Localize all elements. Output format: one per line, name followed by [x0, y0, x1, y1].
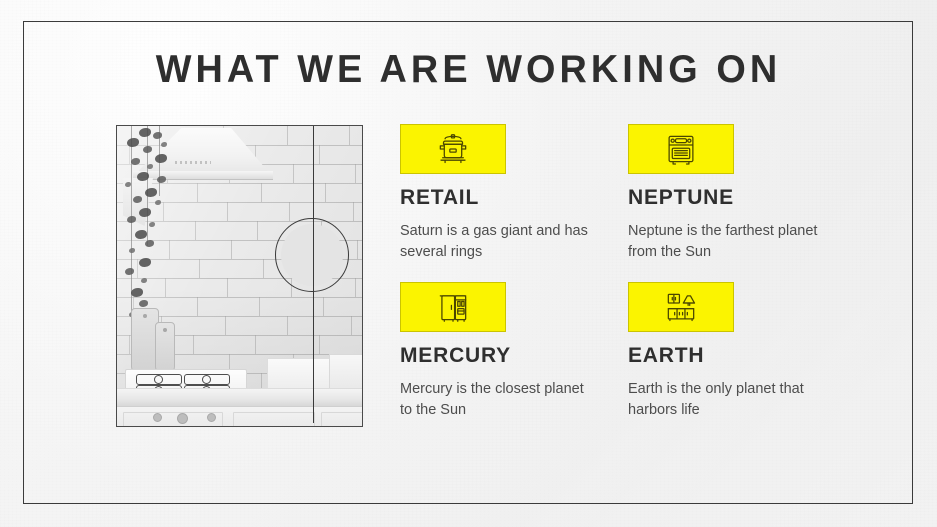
feature-description: Mercury is the closest planet to the Sun	[400, 379, 595, 420]
icon-card-mercury[interactable]	[400, 282, 506, 332]
feature-item-retail: RETAIL Saturn is a gas giant and has sev…	[400, 124, 605, 262]
counter-box-2	[329, 354, 363, 390]
pressure-cooker-icon	[434, 130, 472, 168]
kitchen-cabinets-hood-icon	[662, 288, 700, 326]
overlay-yellow-circle	[281, 224, 343, 286]
feature-description: Earth is the only planet that harbors li…	[628, 379, 823, 420]
cutting-board-small	[155, 322, 175, 372]
kitchen-photo	[116, 125, 363, 427]
feature-title: NEPTUNE	[628, 187, 833, 208]
oven-icon	[662, 130, 700, 168]
feature-item-mercury: MERCURY Mercury is the closest planet to…	[400, 282, 605, 420]
icon-card-earth[interactable]	[628, 282, 734, 332]
countertop	[117, 388, 363, 407]
feature-description: Saturn is a gas giant and has several ri…	[400, 221, 595, 262]
icon-card-neptune[interactable]	[628, 124, 734, 174]
feature-title: EARTH	[628, 345, 833, 366]
feature-description: Neptune is the farthest planet from the …	[628, 221, 823, 262]
refrigerator-cabinet-icon	[434, 288, 472, 326]
page-title: WHAT WE ARE WORKING ON	[14, 50, 923, 89]
presentation-slide: WHAT WE ARE WORKING ON	[0, 0, 937, 527]
feature-title: MERCURY	[400, 345, 605, 366]
lower-cabinets	[117, 406, 363, 427]
range-hood-vent	[175, 161, 211, 164]
overlay-vertical-line	[313, 125, 314, 423]
feature-item-earth: EARTH Earth is the only planet that harb…	[628, 282, 833, 420]
feature-title: RETAIL	[400, 187, 605, 208]
icon-card-retail[interactable]	[400, 124, 506, 174]
feature-item-neptune: NEPTUNE Neptune is the farthest planet f…	[628, 124, 833, 262]
kitchen-photo-content	[117, 126, 362, 426]
counter-box-1	[267, 358, 331, 390]
